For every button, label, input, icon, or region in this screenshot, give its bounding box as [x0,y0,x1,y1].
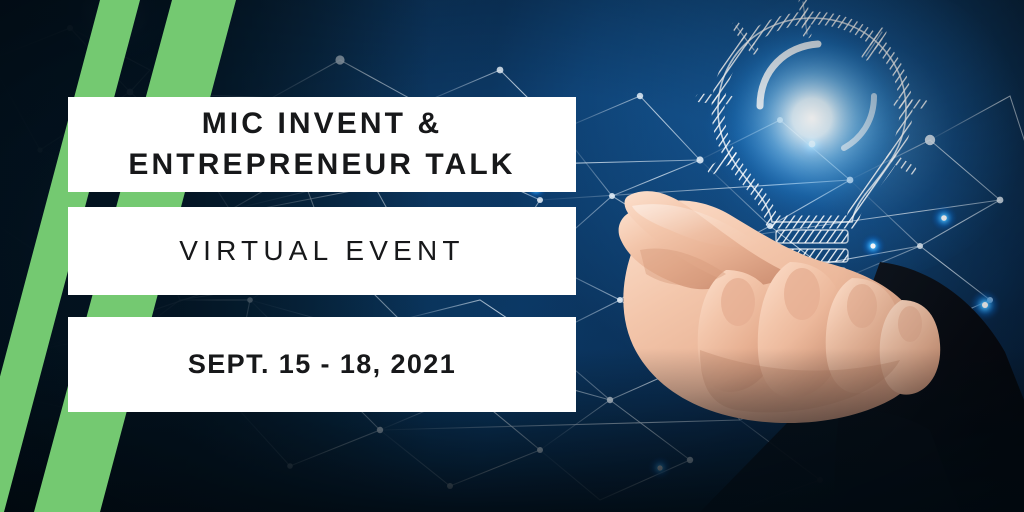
title-line-1: MIC INVENT & [202,104,443,144]
event-date-label: SEPT. 15 - 18, 2021 [188,349,456,380]
event-banner: MIC INVENT & ENTREPRENEUR TALK VIRTUAL E… [0,0,1024,512]
event-type-label: VIRTUAL EVENT [179,235,464,267]
event-date-bar: SEPT. 15 - 18, 2021 [68,317,576,412]
title-line-2: ENTREPRENEUR TALK [128,145,515,185]
event-type-bar: VIRTUAL EVENT [68,207,576,295]
title-bar: MIC INVENT & ENTREPRENEUR TALK [68,97,576,192]
